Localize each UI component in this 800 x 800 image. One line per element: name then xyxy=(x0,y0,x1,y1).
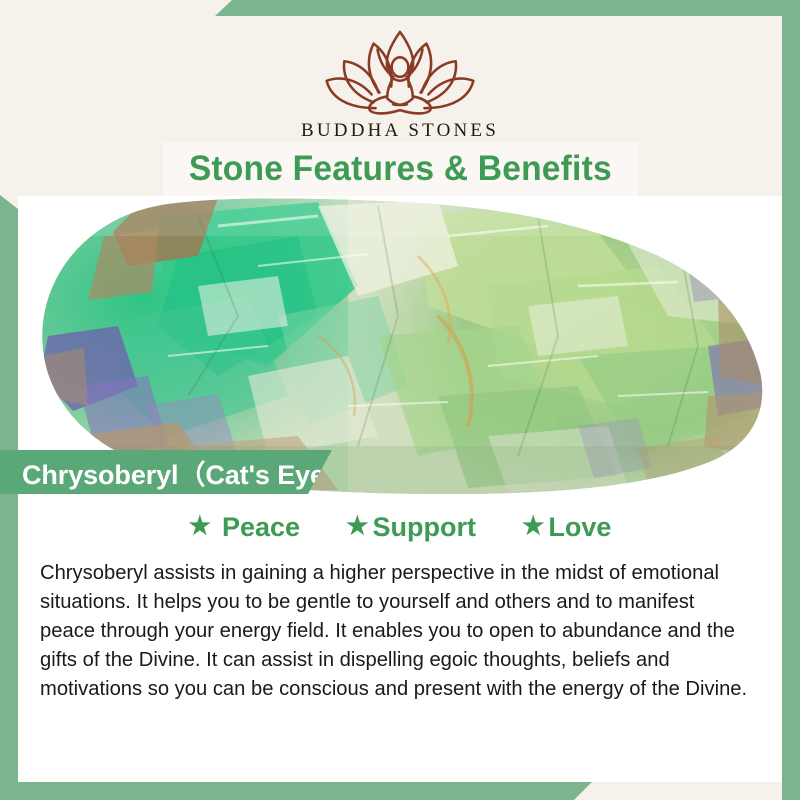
frame-left-bar xyxy=(0,195,18,800)
benefits-row: ★ Peace ★ Support ★ Love xyxy=(18,496,782,543)
frame-bottom-bar xyxy=(0,782,592,800)
benefit-label-support: Support xyxy=(372,512,475,543)
benefit-peace: ★ Peace xyxy=(189,512,301,543)
stone-description: Chrysoberyl assists in gaining a higher … xyxy=(40,558,749,703)
page-title: Stone Features & Benefits xyxy=(189,149,612,189)
frame-right-bar xyxy=(782,15,800,800)
star-icon: ★ xyxy=(189,514,211,539)
benefit-label-love: Love xyxy=(548,512,611,543)
frame-top-bar xyxy=(215,0,800,16)
benefit-support: ★ Support xyxy=(346,512,476,543)
brand-name: BUDDHA STONES xyxy=(301,120,499,142)
infographic-card: BUDDHA STONES Stone Features & Benefits xyxy=(0,0,800,800)
star-icon: ★ xyxy=(522,514,544,539)
lotus-meditation-icon xyxy=(315,26,485,116)
stone-name-text: Chrysoberyl（Cat's Eye） xyxy=(22,453,352,492)
brand-logo: BUDDHA STONES xyxy=(18,26,782,142)
star-icon: ★ xyxy=(346,514,368,539)
title-banner: Stone Features & Benefits xyxy=(163,142,638,196)
content-panel: ★ Peace ★ Support ★ Love Chrysoberyl ass… xyxy=(18,496,782,782)
stone-name-label: Chrysoberyl（Cat's Eye） xyxy=(0,450,332,494)
benefit-love: ★ Love xyxy=(522,512,611,543)
benefit-label-peace: Peace xyxy=(222,512,300,543)
